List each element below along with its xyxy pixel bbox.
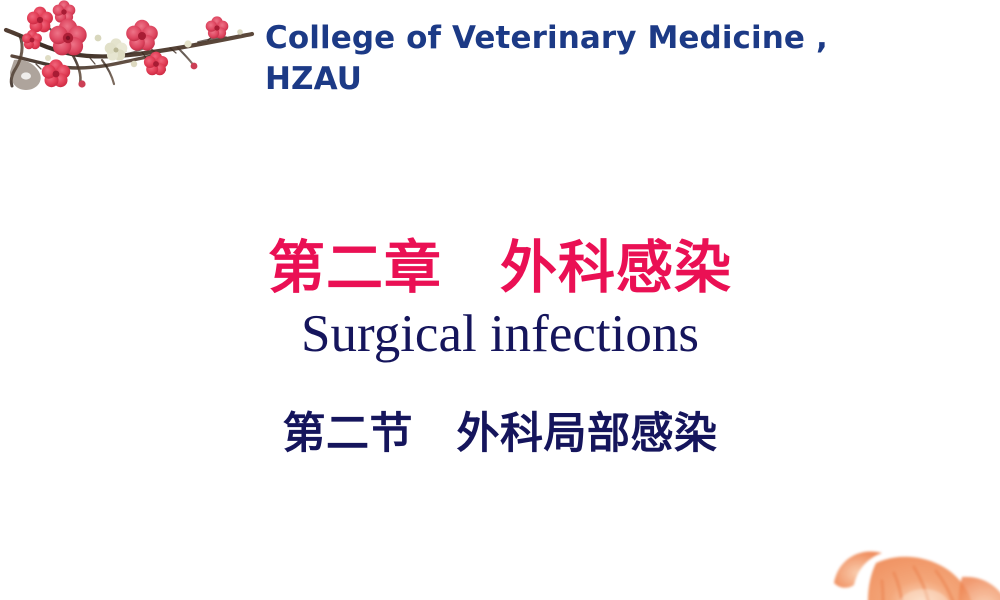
plum-buds [45, 29, 243, 87]
plum-blossom-branch-ornament [2, 0, 260, 116]
title-block: 第二章 外科感染 Surgical infections 第二节 外科局部感染 [0, 238, 1000, 458]
institution-header-line-1: College of Veterinary Medicine , [265, 18, 885, 59]
chapter-title-english: Surgical infections [0, 306, 1000, 363]
plum-blossom-far-right [206, 16, 229, 38]
institution-header: College of Veterinary Medicine , HZAU [265, 18, 885, 100]
section-title-chinese: 第二节 外科局部感染 [0, 411, 1000, 458]
plum-blossom-right-upper [126, 20, 158, 51]
plum-blossom-cluster-left [22, 0, 75, 49]
plum-blossom-lower [42, 59, 70, 87]
orange-bloom-ornament [798, 515, 1000, 600]
presentation-slide: College of Veterinary Medicine , HZAU 第二… [0, 0, 1000, 600]
plum-blossom-large [49, 19, 86, 56]
chapter-title-chinese: 第二章 外科感染 [0, 238, 1000, 298]
plum-blossom-right-lower [144, 52, 168, 76]
plum-bud-pale [105, 38, 128, 60]
plum-blossom-branch-icon [2, 0, 260, 116]
orange-bloom-icon [798, 515, 1000, 600]
institution-header-line-2: HZAU [265, 59, 885, 100]
